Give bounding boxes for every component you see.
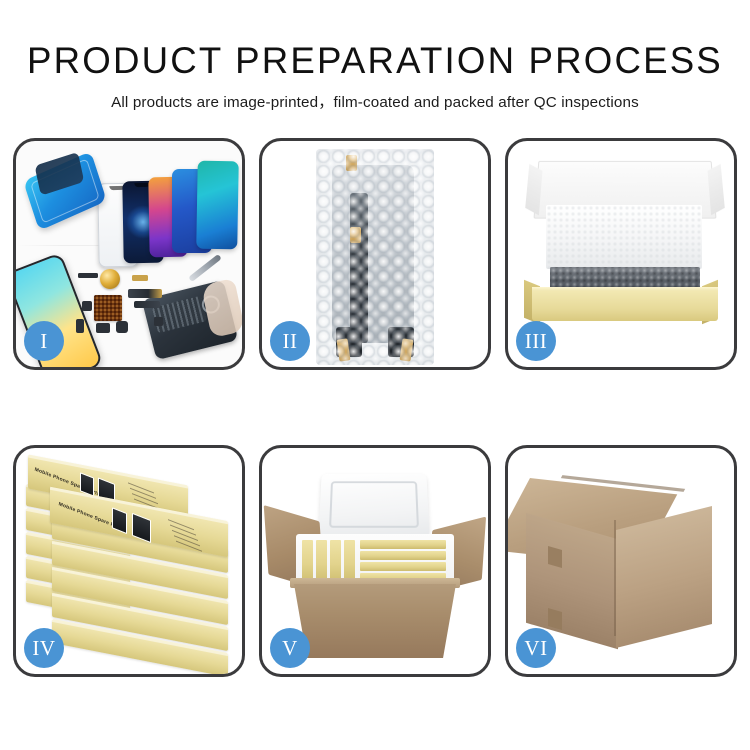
process-steps-grid: I II bbox=[13, 138, 737, 677]
step-badge-3: III bbox=[516, 321, 556, 361]
camera-module-icon bbox=[96, 323, 110, 333]
step-panel-4: Mobile Phone Spare Parts Mobile Phone Sp… bbox=[13, 445, 245, 677]
part-flex-strip bbox=[350, 193, 368, 343]
step-panel-5: V bbox=[259, 445, 491, 677]
foam-cooler-lid bbox=[318, 474, 429, 538]
flex-cable-component-icon bbox=[128, 289, 162, 298]
tweezers-icon bbox=[188, 254, 222, 282]
vibrator-icon bbox=[116, 321, 128, 333]
step-badge-5: V bbox=[270, 628, 310, 668]
carton-vertical-edge bbox=[614, 520, 616, 636]
foam-liner bbox=[546, 205, 702, 269]
box-window-left bbox=[112, 507, 127, 534]
yellow-box-item bbox=[360, 540, 446, 549]
carton-tape-lower bbox=[548, 608, 562, 630]
product-preparation-process-page: PRODUCT PREPARATION PROCESS All products… bbox=[0, 0, 750, 750]
yellow-box-item bbox=[360, 562, 446, 571]
bubble-wrap-bag bbox=[316, 149, 434, 365]
tape-top bbox=[346, 155, 357, 171]
carton-tape-upper bbox=[548, 546, 562, 568]
gold-contact-icon bbox=[132, 275, 148, 281]
step-panel-1: I bbox=[13, 138, 245, 370]
step-panel-6: VI bbox=[505, 445, 737, 677]
box-window-right bbox=[132, 513, 151, 543]
phone-teal bbox=[196, 161, 239, 250]
carton-body bbox=[294, 584, 456, 658]
phone-back-adhesive bbox=[23, 151, 107, 231]
page-subtitle: All products are image-printed，film-coat… bbox=[0, 81, 750, 112]
box-front-yellow bbox=[532, 291, 718, 321]
screw-icon bbox=[154, 317, 163, 326]
step-badge-6: VI bbox=[516, 628, 556, 668]
carton-side-face bbox=[616, 506, 712, 648]
step-badge-4: IV bbox=[24, 628, 64, 668]
wrapped-part bbox=[332, 165, 414, 343]
step-badge-1: I bbox=[24, 321, 64, 361]
step-panel-3: III bbox=[505, 138, 737, 370]
connector-bit-icon bbox=[78, 273, 98, 278]
page-title: PRODUCT PREPARATION PROCESS bbox=[4, 0, 747, 81]
yellow-box-item bbox=[360, 551, 446, 560]
tape-middle bbox=[350, 227, 361, 243]
tape-bottom-right bbox=[400, 338, 414, 361]
header: PRODUCT PREPARATION PROCESS All products… bbox=[0, 0, 750, 112]
speaker-component-icon bbox=[100, 269, 120, 289]
step-panel-2: II bbox=[259, 138, 491, 370]
sim-tray-icon bbox=[76, 319, 84, 333]
step-badge-2: II bbox=[270, 321, 310, 361]
flex-cable-small-icon bbox=[134, 301, 160, 308]
button-bit-icon bbox=[82, 301, 92, 311]
chip-grid-component-icon bbox=[94, 295, 122, 321]
